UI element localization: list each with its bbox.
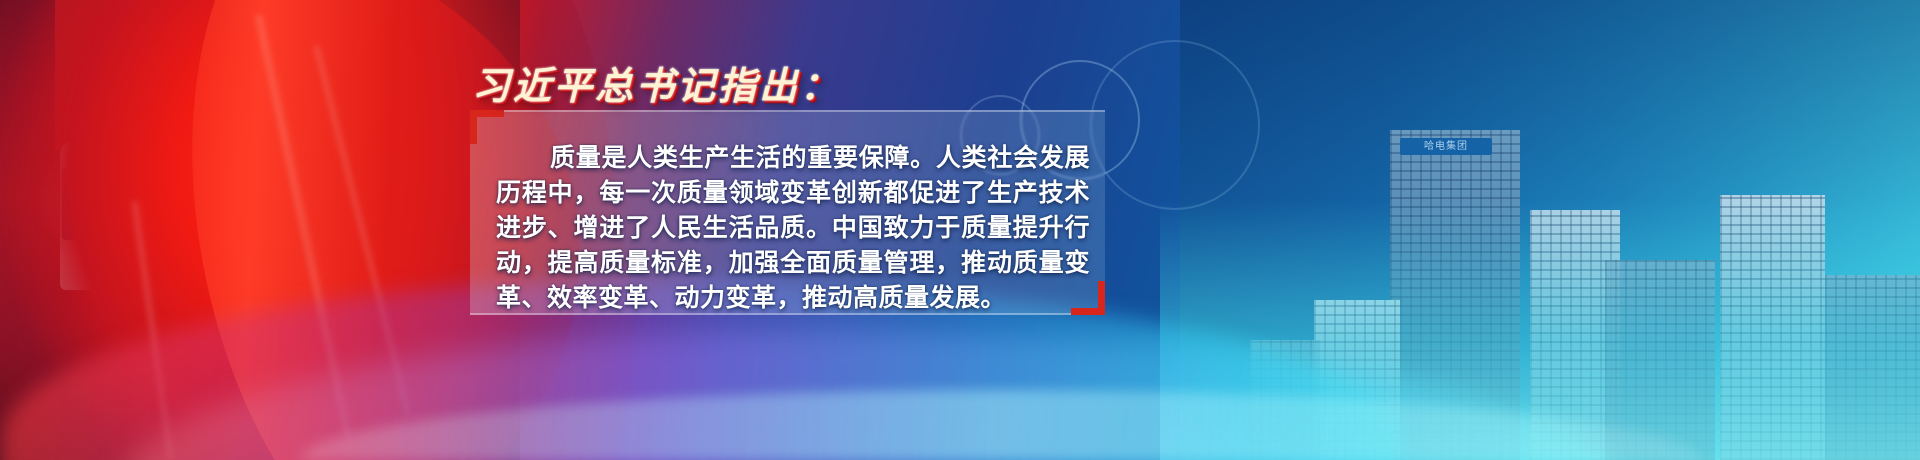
hud-arc-icon bbox=[1090, 40, 1260, 210]
page-title: 习近平总书记指出： bbox=[472, 55, 841, 110]
promotional-banner: 哈电集团 14 哈电集团 HE 中国三峡 习近平总书记指出： 质量是人类生产生活 bbox=[0, 0, 1920, 460]
building-sign-label: 哈电集团 bbox=[1400, 138, 1492, 155]
quote-panel-top-edge bbox=[504, 110, 1105, 112]
corner-bracket-top-left bbox=[470, 110, 504, 144]
quote-body-text: 质量是人类生产生活的重要保障。人类社会发展历程中，每一次质量领域变革创新都促进了… bbox=[496, 140, 1090, 315]
